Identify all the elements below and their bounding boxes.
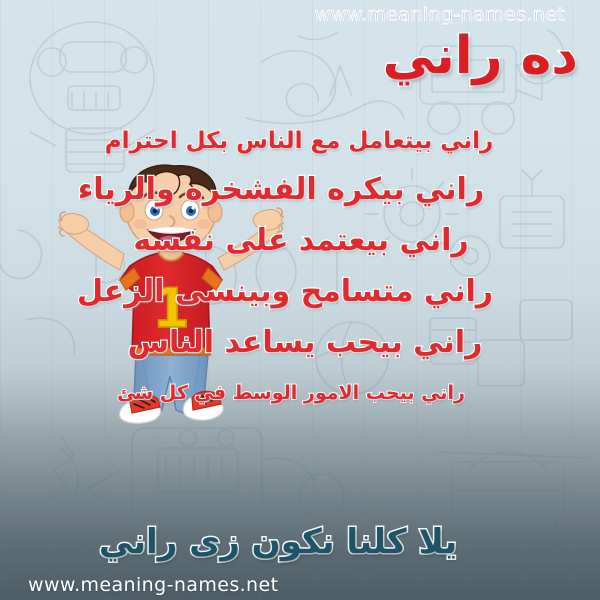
trait-line: راني بيحب الامور الوسط في كل شئ bbox=[0, 382, 586, 404]
watermark-bottom: www.meaning-names.net bbox=[28, 574, 278, 596]
trait-line: راني متسامح وبينسى الزعل bbox=[0, 274, 580, 309]
trait-line: راني بيحب يساعد الناس bbox=[10, 325, 600, 360]
watermark-top: www.meaning-names.net bbox=[315, 4, 565, 26]
page-title: ده راني bbox=[383, 30, 578, 82]
name-meaning-card: 1 bbox=[0, 0, 600, 600]
trait-line: راني بيعتمد على نفسه bbox=[6, 223, 596, 258]
trait-line: راني بيكره الفشخره والرياء bbox=[0, 172, 576, 207]
trait-line: راني بيتعامل مع الناس بكل احترام bbox=[0, 128, 590, 154]
closing-line: يلا كلنا نكون زى راني bbox=[0, 522, 578, 562]
trait-list: راني بيتعامل مع الناس بكل احترام راني بي… bbox=[0, 128, 600, 404]
